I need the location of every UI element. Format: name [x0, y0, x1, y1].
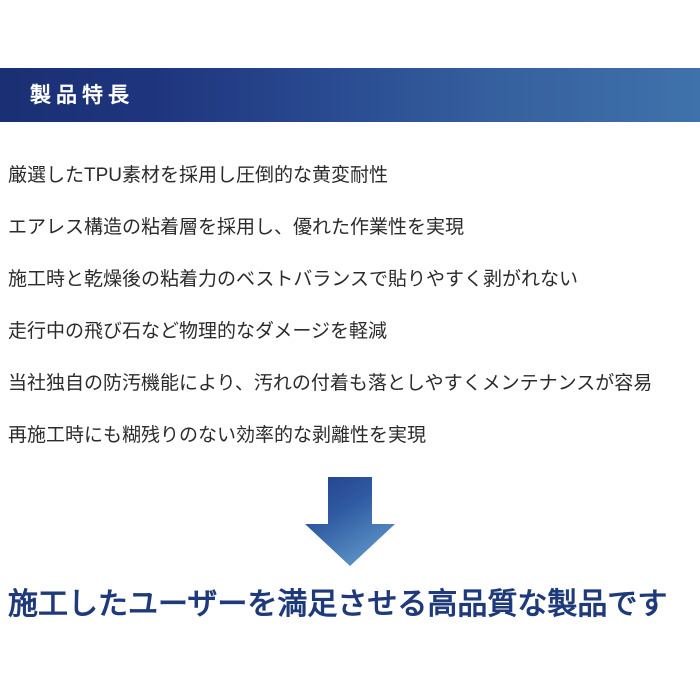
feature-item-text: 再施工時にも糊残りのない効率的な剥離性を実現	[8, 425, 426, 448]
product-features-page: 製品特長 厳選したTPU素材を採用し圧倒的な黄変耐性 エアレス構造の粘着層を採用…	[0, 0, 700, 700]
feature-item-text: 厳選したTPU素材を採用し圧倒的な黄変耐性	[8, 165, 388, 188]
feature-list: 厳選したTPU素材を採用し圧倒的な黄変耐性 エアレス構造の粘着層を採用し、優れた…	[0, 150, 700, 462]
feature-item: 走行中の飛び石など物理的なダメージを軽減	[0, 306, 700, 358]
feature-item: 施工時と乾燥後の粘着力のベストバランスで貼りやすく剥がれない	[0, 254, 700, 306]
feature-item: 厳選したTPU素材を採用し圧倒的な黄変耐性	[0, 150, 700, 202]
feature-item: エアレス構造の粘着層を採用し、優れた作業性を実現	[0, 202, 700, 254]
feature-item: 当社独自の防汚機能により、汚れの付着も落としやすくメンテナンスが容易	[0, 358, 700, 410]
arrow-down-icon	[305, 477, 395, 566]
feature-item: 再施工時にも糊残りのない効率的な剥離性を実現	[0, 410, 700, 462]
feature-item-text: 当社独自の防汚機能により、汚れの付着も落としやすくメンテナンスが容易	[8, 373, 652, 396]
feature-item-text: エアレス構造の粘着層を採用し、優れた作業性を実現	[8, 217, 464, 240]
feature-item-text: 走行中の飛び石など物理的なダメージを軽減	[8, 321, 387, 344]
section-banner: 製品特長	[0, 68, 700, 122]
feature-item-text: 施工時と乾燥後の粘着力のベストバランスで貼りやすく剥がれない	[8, 269, 578, 292]
section-title: 製品特長	[30, 85, 134, 106]
conclusion-text: 施工したユーザーを満足させる高品質な製品です	[8, 579, 667, 623]
conclusion-headline: 施工したユーザーを満足させる高品質な製品です	[8, 578, 700, 624]
